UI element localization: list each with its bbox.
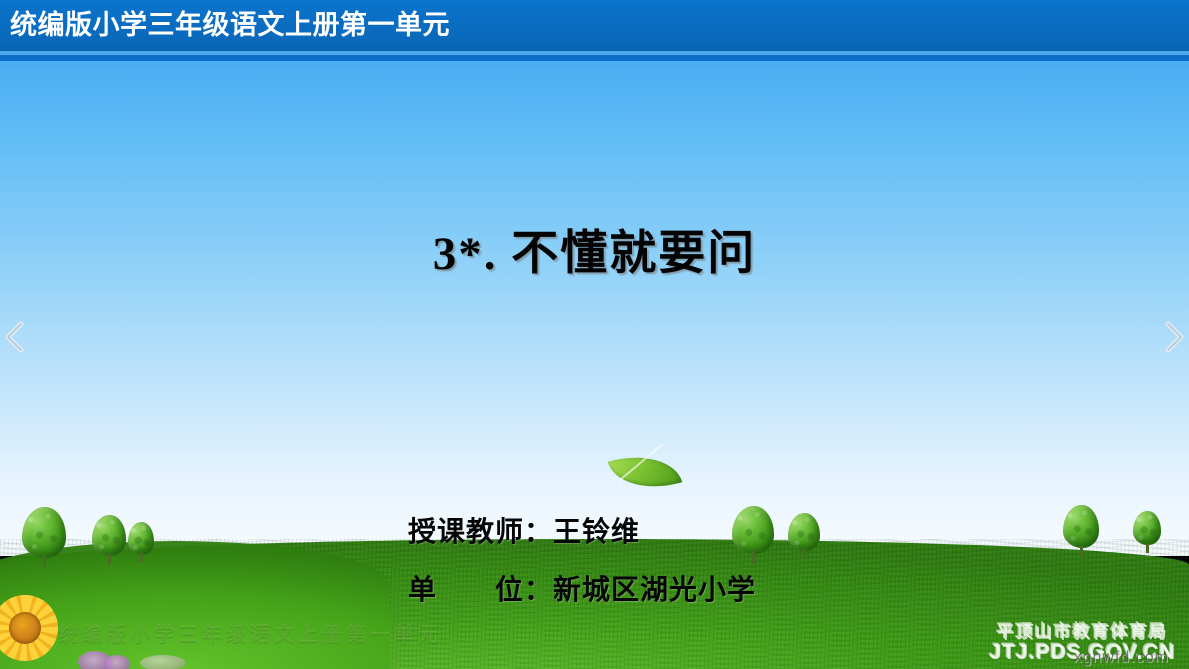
sunflower-icon [0, 595, 58, 661]
watermark-cn-text: 平顶山市教育体育局 [989, 623, 1175, 641]
sky-background [0, 61, 1189, 556]
watermark: 平顶山市教育体育局 JTJ.PDS.GOV.CN xgnwfd.com [989, 623, 1175, 663]
tree-crown-icon [92, 515, 126, 556]
chevron-right-icon[interactable] [1161, 320, 1187, 354]
tree-left-3 [128, 522, 154, 562]
stone-decoration [140, 655, 186, 669]
tree-trunk [1146, 544, 1149, 553]
slide-header-bar: 统编版小学三年级语文上册第一单元 [0, 0, 1189, 51]
tree-mid-2 [788, 513, 820, 559]
tree-trunk [803, 549, 806, 559]
purple-flower-2 [104, 655, 130, 669]
tree-trunk [140, 553, 143, 562]
lesson-title: 3*. 不懂就要问 [0, 214, 1189, 283]
teacher-line: 授课教师：王铃维 [408, 503, 756, 561]
watermark-overlay-text: xgnwfd.com [1074, 650, 1169, 667]
tree-trunk [108, 554, 111, 565]
chevron-left-icon[interactable] [2, 320, 28, 354]
tree-crown-icon [1133, 511, 1161, 545]
tree-crown-icon [1063, 505, 1099, 548]
tree-right-1 [1063, 505, 1099, 557]
tree-crown-icon [128, 522, 154, 555]
presenter-info: 授课教师：王铃维 单 位：新城区湖光小学 [408, 503, 756, 619]
tree-trunk [1080, 546, 1083, 557]
page-title: 统编版小学三年级语文上册第一单元 [10, 8, 450, 43]
sunflower-disc [9, 612, 41, 644]
tree-crown-icon [788, 513, 820, 551]
tree-trunk [43, 555, 46, 569]
presentation-slide: 统编版小学三年级语文上册第一单元 统编版小学三年级语文上册第一单元 3*. 不懂… [0, 0, 1189, 669]
tree-left-1 [22, 507, 66, 569]
school-line: 单 位：新城区湖光小学 [408, 561, 756, 619]
tree-left-2 [92, 515, 126, 565]
header-stripe-dark [0, 55, 1189, 61]
grass-watermark-text: 统编版小学三年级语文上册第一单元 [58, 618, 442, 647]
tree-right-2 [1133, 511, 1161, 553]
tree-crown-icon [22, 507, 66, 558]
